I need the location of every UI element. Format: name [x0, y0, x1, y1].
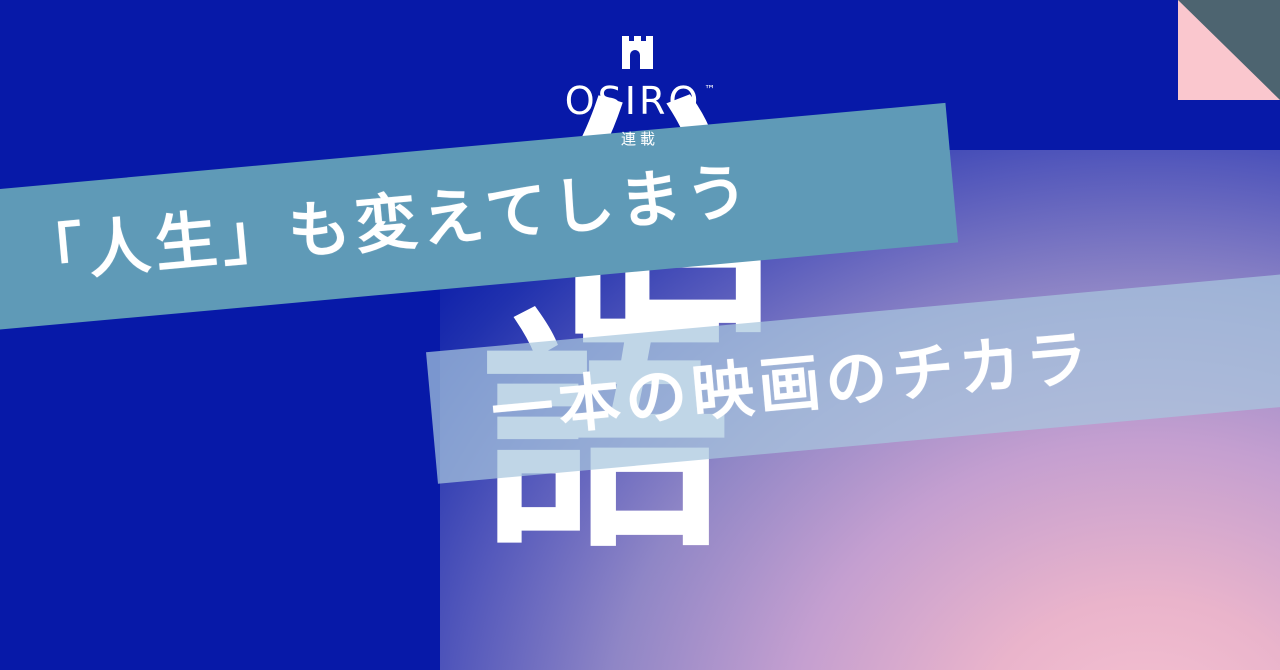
logo-subtitle: 連載 [621, 132, 659, 147]
title-line-1: 「人生」も変えてしまう [19, 160, 756, 288]
logo-wordmark: OSIRO ™ [565, 82, 716, 120]
banner-canvas: 信 語 「人生」も変えてしまう 一本の映画のチカラ OSIRO ™ 連載 [0, 0, 1280, 670]
trademark-icon: ™ [704, 84, 715, 95]
brand-logo[interactable]: OSIRO ™ 連載 [0, 30, 1280, 147]
title-line-2: 一本の映画のチカラ [489, 327, 1095, 443]
castle-icon [621, 30, 659, 70]
logo-text: OSIRO [565, 82, 702, 120]
